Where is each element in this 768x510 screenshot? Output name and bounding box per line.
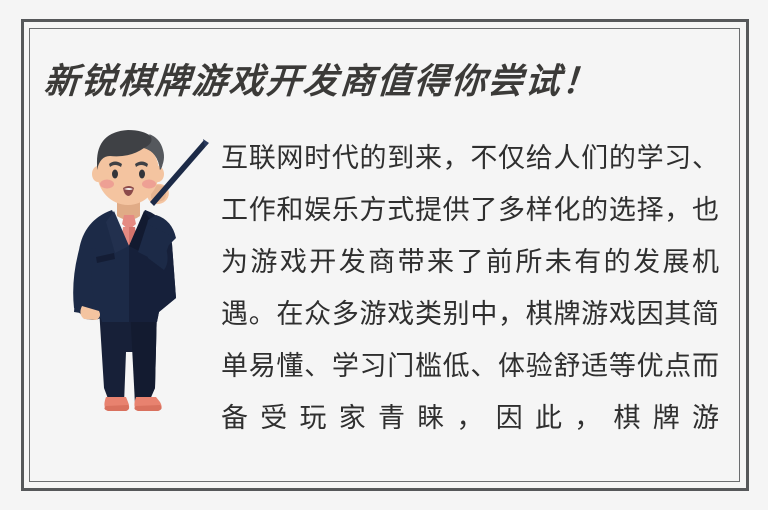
shoes-group xyxy=(104,397,161,411)
illustration-businessman-with-pointer xyxy=(52,112,224,424)
trousers-group xyxy=(99,308,157,404)
article-card: 新锐棋牌游戏开发商值得你尝试！ 互联网时代的到来，不仅给人们的学习、工作和娱乐方… xyxy=(0,0,768,510)
page-title: 新锐棋牌游戏开发商值得你尝试！ xyxy=(42,57,686,109)
article-paragraph: 互联网时代的到来，不仅给人们的学习、工作和娱乐方式提供了多样化的选择，也为游戏开… xyxy=(221,133,719,445)
